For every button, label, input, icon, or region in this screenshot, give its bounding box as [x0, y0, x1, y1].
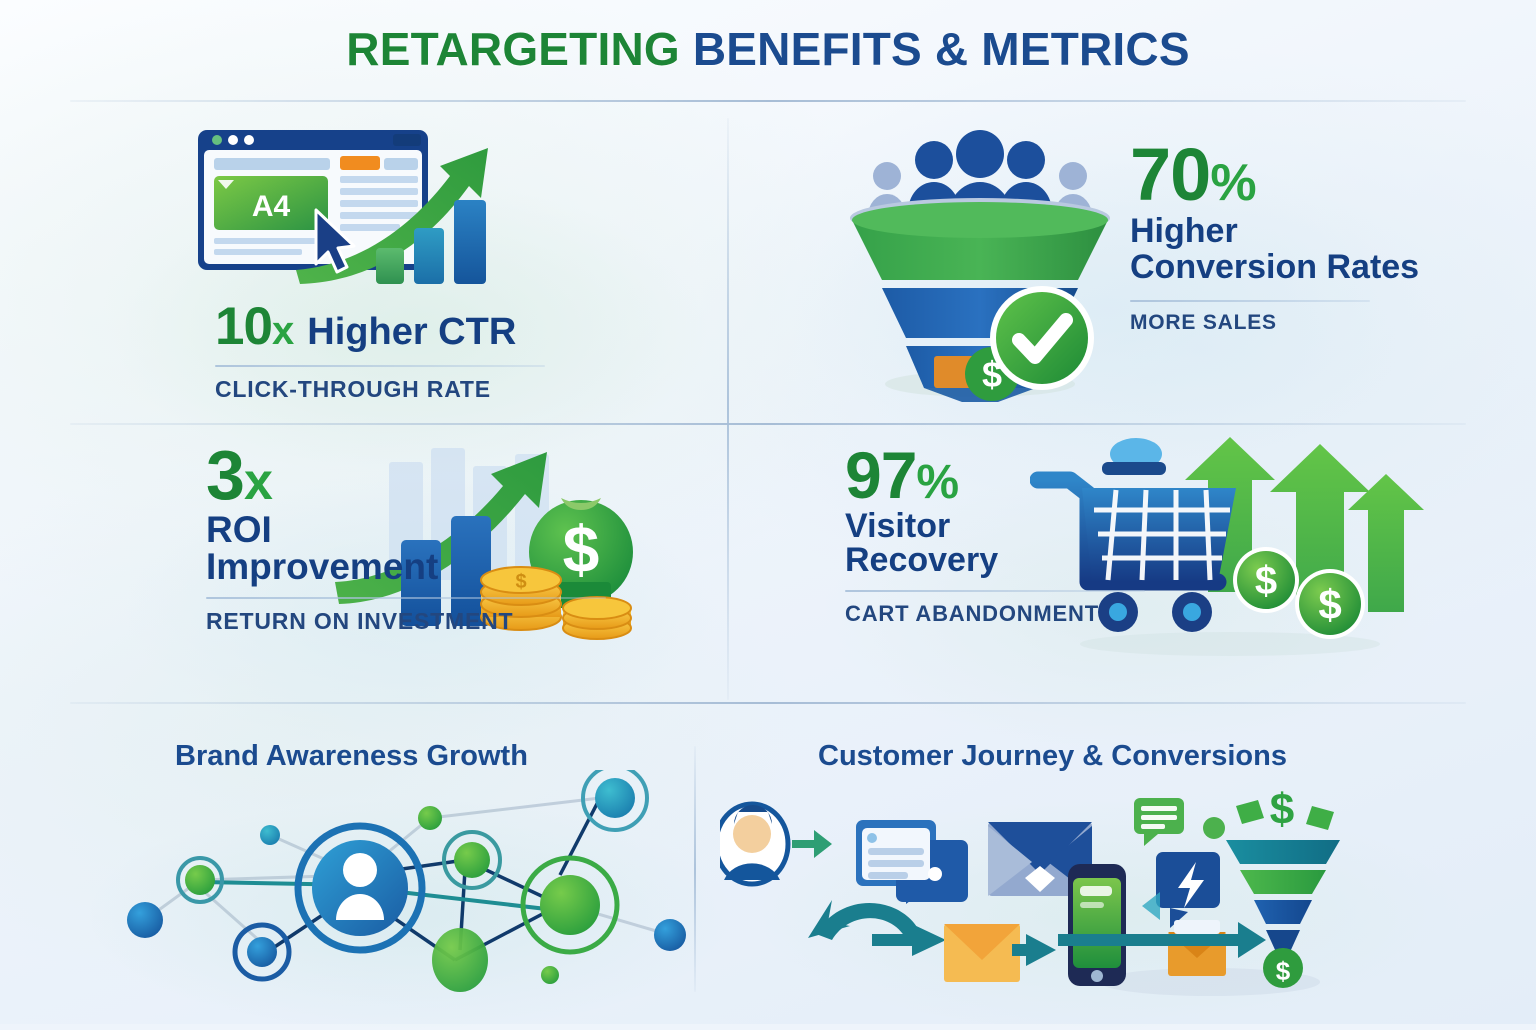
stat-text-recovery: 97% Visitor Recovery CART ABANDONMENT	[845, 444, 1175, 627]
stat-number: 97	[845, 438, 916, 512]
stat-title: Higher Conversion Rates	[1130, 214, 1460, 285]
title-blue-part: BENEFITS & METRICS	[693, 23, 1190, 75]
divider-middle	[70, 423, 1466, 425]
stat-card-ctr: A4 10x Highe	[70, 110, 720, 415]
stat-subtitle: RETURN ON INVESTMENT	[206, 608, 626, 635]
stat-title-line2: Conversion Rates	[1130, 250, 1460, 286]
page-title: RETARGETING BENEFITS & METRICS	[0, 24, 1536, 75]
stat-card-roi: $ $ 3x ROI Improveme	[70, 432, 720, 694]
stat-title-line2: Improvement	[206, 548, 626, 585]
stat-unit: %	[916, 456, 958, 509]
divider-vertical-main	[727, 118, 729, 700]
panel-title-brand-awareness: Brand Awareness Growth	[175, 740, 528, 773]
stat-underline	[215, 365, 545, 367]
stat-headline: 97%	[845, 444, 1175, 507]
stat-headline: 70%	[1130, 140, 1460, 210]
stat-number: 3	[206, 436, 244, 514]
stat-title-line2: Recovery	[845, 543, 1175, 578]
stat-title: Higher CTR	[307, 311, 516, 353]
journey-flow-icon: $ $	[720, 782, 1340, 1007]
stat-text-roi: 3x ROI Improvement RETURN ON INVESTMENT	[206, 442, 626, 635]
divider-top	[70, 100, 1466, 102]
stat-unit: x	[272, 309, 294, 353]
stat-text-ctr: 10x Higher CTR CLICK-THROUGH RATE	[215, 300, 595, 403]
panel-title-customer-journey: Customer Journey & Conversions	[818, 740, 1287, 773]
stat-title-line1: Visitor	[845, 509, 1175, 544]
divider-bottom	[70, 702, 1466, 704]
stat-subtitle: CLICK-THROUGH RATE	[215, 376, 595, 403]
stat-underline	[206, 597, 606, 599]
stat-title-line1: Higher	[1130, 214, 1460, 250]
conversion-funnel-icon: $	[830, 112, 1130, 402]
stat-title-line1: ROI	[206, 511, 626, 548]
svg-text:$: $	[1255, 559, 1277, 603]
stat-headline: 10x Higher CTR	[215, 300, 595, 355]
browser-ad-chart-icon: A4	[188, 118, 528, 298]
stat-number: 10	[215, 297, 272, 356]
stat-underline	[845, 590, 1145, 592]
stat-underline	[1130, 300, 1370, 302]
stat-subtitle: CART ABANDONMENT	[845, 601, 1175, 627]
stat-card-conversion: $ 70% Higher Conversion Rates MORE SALES	[740, 110, 1466, 415]
stat-title: ROI Improvement	[206, 511, 626, 585]
stat-title: Visitor Recovery	[845, 509, 1175, 578]
title-green-part: RETARGETING	[346, 23, 680, 75]
svg-text:A4: A4	[252, 190, 291, 223]
svg-text:$: $	[1270, 785, 1294, 834]
stat-headline: 3x	[206, 442, 626, 509]
stat-unit: x	[244, 453, 272, 511]
stat-unit: %	[1210, 154, 1255, 212]
svg-text:$: $	[1276, 956, 1291, 986]
stat-subtitle: MORE SALES	[1130, 311, 1460, 335]
stat-card-recovery: $ $ 97% Visitor Recovery CART ABANDONMEN…	[740, 432, 1466, 694]
infographic-canvas: RETARGETING BENEFITS & METRICS	[0, 0, 1536, 1024]
svg-text:$: $	[1318, 581, 1341, 628]
stat-text-conversion: 70% Higher Conversion Rates MORE SALES	[1130, 140, 1460, 335]
network-nodes-icon	[110, 770, 710, 1010]
stat-number: 70	[1130, 133, 1210, 216]
